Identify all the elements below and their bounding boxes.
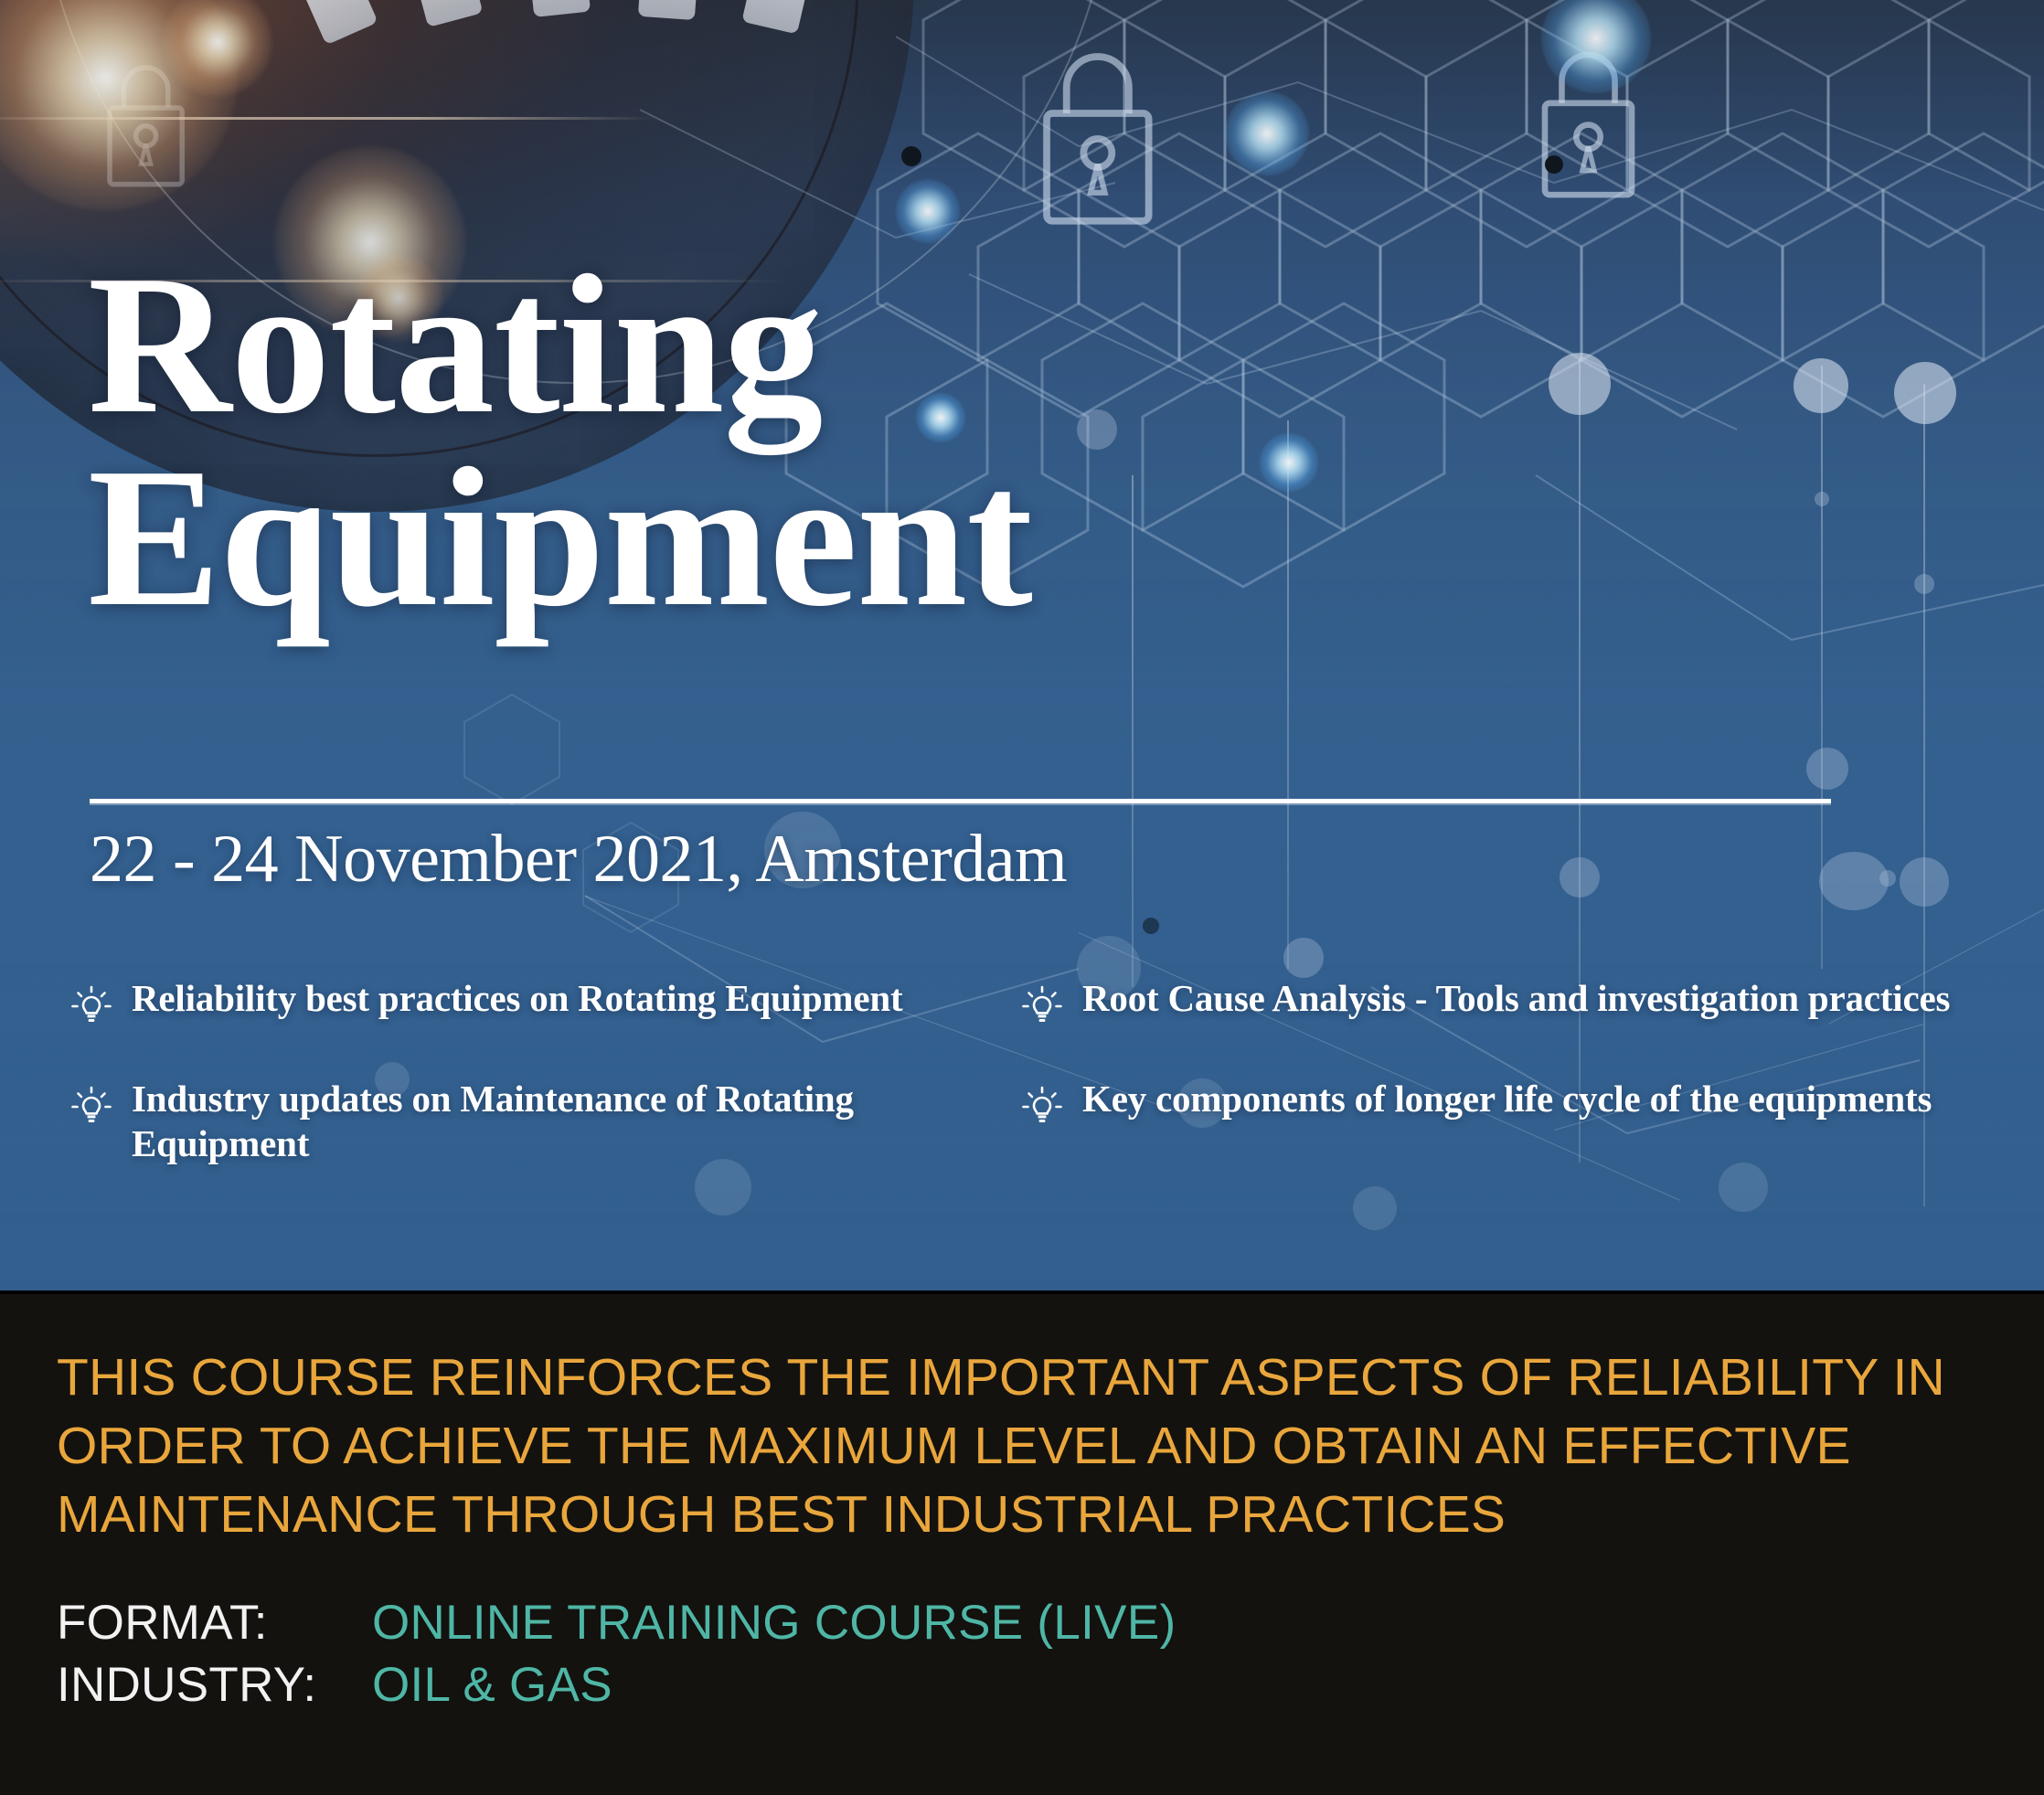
lightbulb-icon	[1022, 985, 1062, 1029]
highlights-list: Reliability best practices on Rotating E…	[71, 976, 1991, 1166]
lightbulb-icon	[71, 1086, 112, 1130]
list-item: Root Cause Analysis - Tools and investig…	[1022, 976, 1991, 1029]
page-title-line-2: Equipment	[88, 441, 1459, 634]
hero-banner: Rotating Equipment 22 - 24 November 2021…	[0, 0, 2044, 1290]
poster-root: Rotating Equipment 22 - 24 November 2021…	[0, 0, 2044, 1795]
highlights-column-left: Reliability best practices on Rotating E…	[71, 976, 1022, 1166]
course-meta: FORMAT: ONLINE TRAINING COURSE (LIVE) IN…	[57, 1592, 1176, 1716]
list-item: Reliability best practices on Rotating E…	[71, 976, 1022, 1029]
title-divider	[90, 799, 1831, 803]
footer-top-edge	[0, 1290, 2044, 1294]
list-item: Key components of longer life cycle of t…	[1022, 1077, 1991, 1130]
list-item-label: Root Cause Analysis - Tools and investig…	[1082, 976, 1950, 1021]
page-title-line-1: Rotating	[88, 235, 822, 455]
highlights-column-right: Root Cause Analysis - Tools and investig…	[1022, 976, 1991, 1166]
list-item-label: Industry updates on Maintenance of Rotat…	[132, 1077, 954, 1166]
footer-panel: THIS COURSE REINFORCES THE IMPORTANT ASP…	[0, 1290, 2044, 1795]
format-label: FORMAT:	[57, 1592, 372, 1654]
course-tagline: THIS COURSE REINFORCES THE IMPORTANT ASP…	[57, 1344, 1995, 1550]
event-dateline: 22 - 24 November 2021, Amsterdam	[90, 821, 1067, 898]
format-value: ONLINE TRAINING COURSE (LIVE)	[372, 1592, 1176, 1654]
lightbulb-icon	[1022, 1086, 1062, 1130]
industry-label: INDUSTRY:	[57, 1654, 372, 1716]
meta-row-format: FORMAT: ONLINE TRAINING COURSE (LIVE)	[57, 1592, 1176, 1654]
page-title: Rotating Equipment	[88, 249, 1459, 635]
meta-row-industry: INDUSTRY: OIL & GAS	[57, 1654, 1176, 1716]
list-item-label: Reliability best practices on Rotating E…	[132, 976, 902, 1021]
lightbulb-icon	[71, 985, 112, 1029]
industry-value: OIL & GAS	[372, 1654, 612, 1716]
list-item: Industry updates on Maintenance of Rotat…	[71, 1077, 1022, 1166]
list-item-label: Key components of longer life cycle of t…	[1082, 1077, 1932, 1121]
